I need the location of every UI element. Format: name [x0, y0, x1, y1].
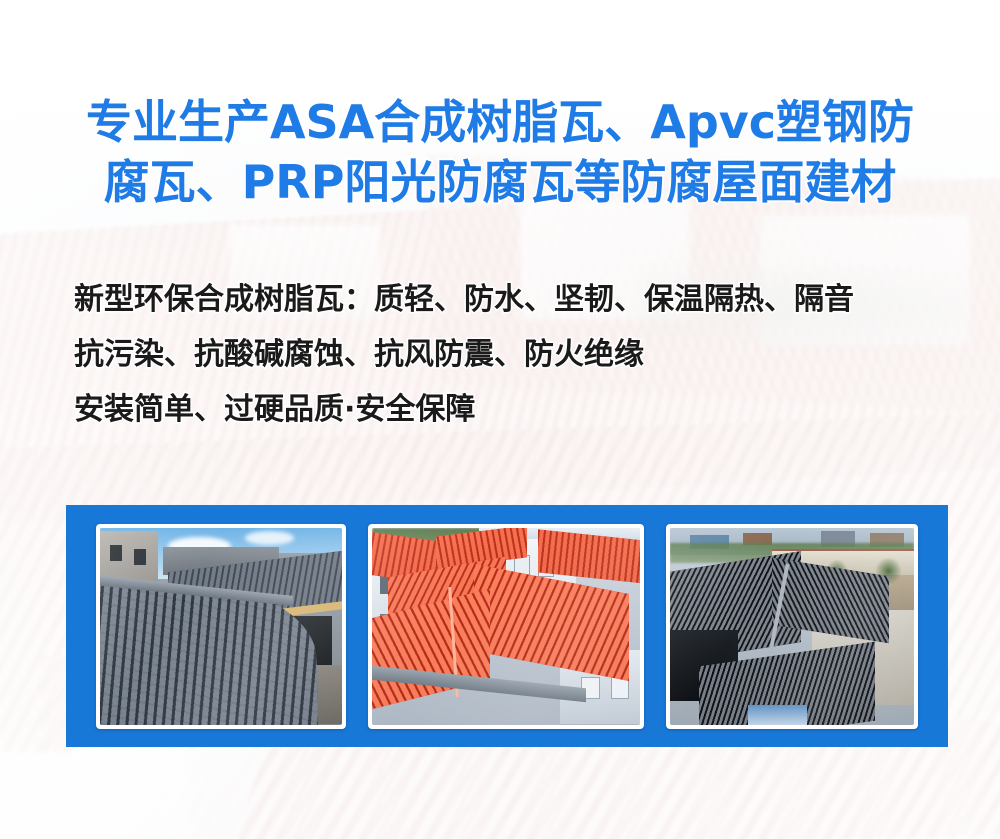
photo-gallery-panel	[66, 505, 948, 747]
subtitle-block: 新型环保合成树脂瓦：质轻、防水、坚韧、保温隔热、隔音 抗污染、抗酸碱腐蚀、抗风防…	[74, 272, 854, 437]
photo2-window-right-2	[611, 677, 630, 699]
black-resin-tile-roof-photo	[670, 528, 914, 725]
headline: 专业生产ASA合成树脂瓦、Apvc塑钢防 腐瓦、PRP阳光防腐瓦等防腐屋面建材	[0, 92, 1000, 212]
photo-card-red-roof[interactable]	[368, 524, 644, 729]
photo1-cloud-right	[245, 531, 293, 545]
subtitle-line-3: 安装简单、过硬品质·安全保障	[74, 382, 854, 437]
photo1-window-b	[134, 549, 146, 565]
grey-resin-tile-roof-photo	[100, 528, 342, 725]
photo-card-grey-roof[interactable]	[96, 524, 346, 729]
subtitle-line-1: 新型环保合成树脂瓦：质轻、防水、坚韧、保温隔热、隔音	[74, 272, 854, 327]
photo2-roof-main-right	[474, 564, 629, 681]
photo1-window-a	[110, 545, 122, 561]
photo3-foreground-detail	[748, 705, 807, 725]
subtitle-line-2: 抗污染、抗酸碱腐蚀、抗风防震、防火绝缘	[74, 327, 854, 382]
red-resin-tile-roof-photo	[372, 528, 640, 725]
product-promo-banner: 专业生产ASA合成树脂瓦、Apvc塑钢防 腐瓦、PRP阳光防腐瓦等防腐屋面建材 …	[0, 0, 1000, 839]
photo-card-black-roof[interactable]	[666, 524, 918, 729]
headline-line-1: 专业生产ASA合成树脂瓦、Apvc塑钢防	[0, 92, 1000, 152]
headline-line-2: 腐瓦、PRP阳光防腐瓦等防腐屋面建材	[0, 152, 1000, 212]
